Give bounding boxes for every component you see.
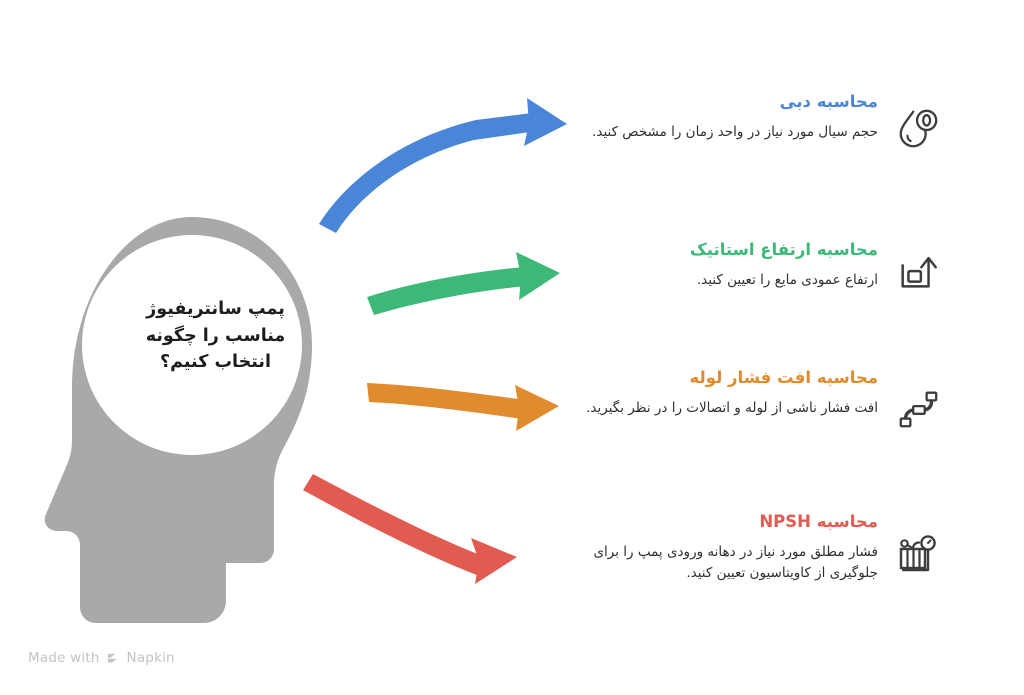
pump-pressure-gauge-icon <box>892 532 944 584</box>
branch-item-npsh[interactable]: محاسبه NPSH فشار مطلق مورد نیاز در دهانه… <box>584 512 944 585</box>
branch-item-flow-rate[interactable]: محاسبه دبی حجم سیال مورد نیاز در واحد زم… <box>584 92 944 158</box>
arrow-flow-rate <box>319 98 567 233</box>
branch-title-pipe-pressure: محاسبه افت فشار لوله <box>584 368 878 389</box>
branch-text-npsh: محاسبه NPSH فشار مطلق مورد نیاز در دهانه… <box>584 512 892 585</box>
branch-description-static-head: ارتفاع عمودی مایع را تعیین کنید. <box>584 270 878 292</box>
vertical-height-arrow-icon <box>892 250 944 302</box>
center-question-text: پمپ سانتریفیوژ مناسب را چگونه انتخاب کنی… <box>118 296 313 376</box>
branch-description-npsh: فشار مطلق مورد نیاز در دهانه ورودی پمپ ر… <box>584 542 878 586</box>
water-droplet-gauge-icon <box>892 106 944 158</box>
branch-text-static-head: محاسبه ارتفاع استاتیک ارتفاع عمودی مایع … <box>584 240 892 291</box>
watermark-made-with-label: Made with <box>28 650 100 666</box>
arrow-pipe-pressure <box>367 383 559 431</box>
diagram-canvas: پمپ سانتریفیوژ مناسب را چگونه انتخاب کنی… <box>0 0 1024 695</box>
branch-text-flow-rate: محاسبه دبی حجم سیال مورد نیاز در واحد زم… <box>584 92 892 143</box>
branch-title-flow-rate: محاسبه دبی <box>584 92 878 113</box>
napkin-chevrons-icon <box>106 651 121 666</box>
arrow-static-head <box>367 252 560 315</box>
branch-description-pipe-pressure: افت فشار ناشی از لوله و اتصالات را در نظ… <box>584 398 878 420</box>
branch-title-npsh: محاسبه NPSH <box>584 512 878 533</box>
branch-description-flow-rate: حجم سیال مورد نیاز در واحد زمان را مشخص … <box>584 122 878 144</box>
s-pipe-fitting-icon <box>892 386 944 438</box>
watermark-brand-label: Napkin <box>127 650 175 666</box>
branch-title-static-head: محاسبه ارتفاع استاتیک <box>584 240 878 261</box>
head-silhouette <box>40 215 340 625</box>
branch-text-pipe-pressure: محاسبه افت فشار لوله افت فشار ناشی از لو… <box>584 368 892 419</box>
branch-item-static-head[interactable]: محاسبه ارتفاع استاتیک ارتفاع عمودی مایع … <box>584 240 944 302</box>
napkin-watermark[interactable]: Made with Napkin <box>28 650 175 666</box>
branch-item-pipe-pressure[interactable]: محاسبه افت فشار لوله افت فشار ناشی از لو… <box>584 368 944 438</box>
